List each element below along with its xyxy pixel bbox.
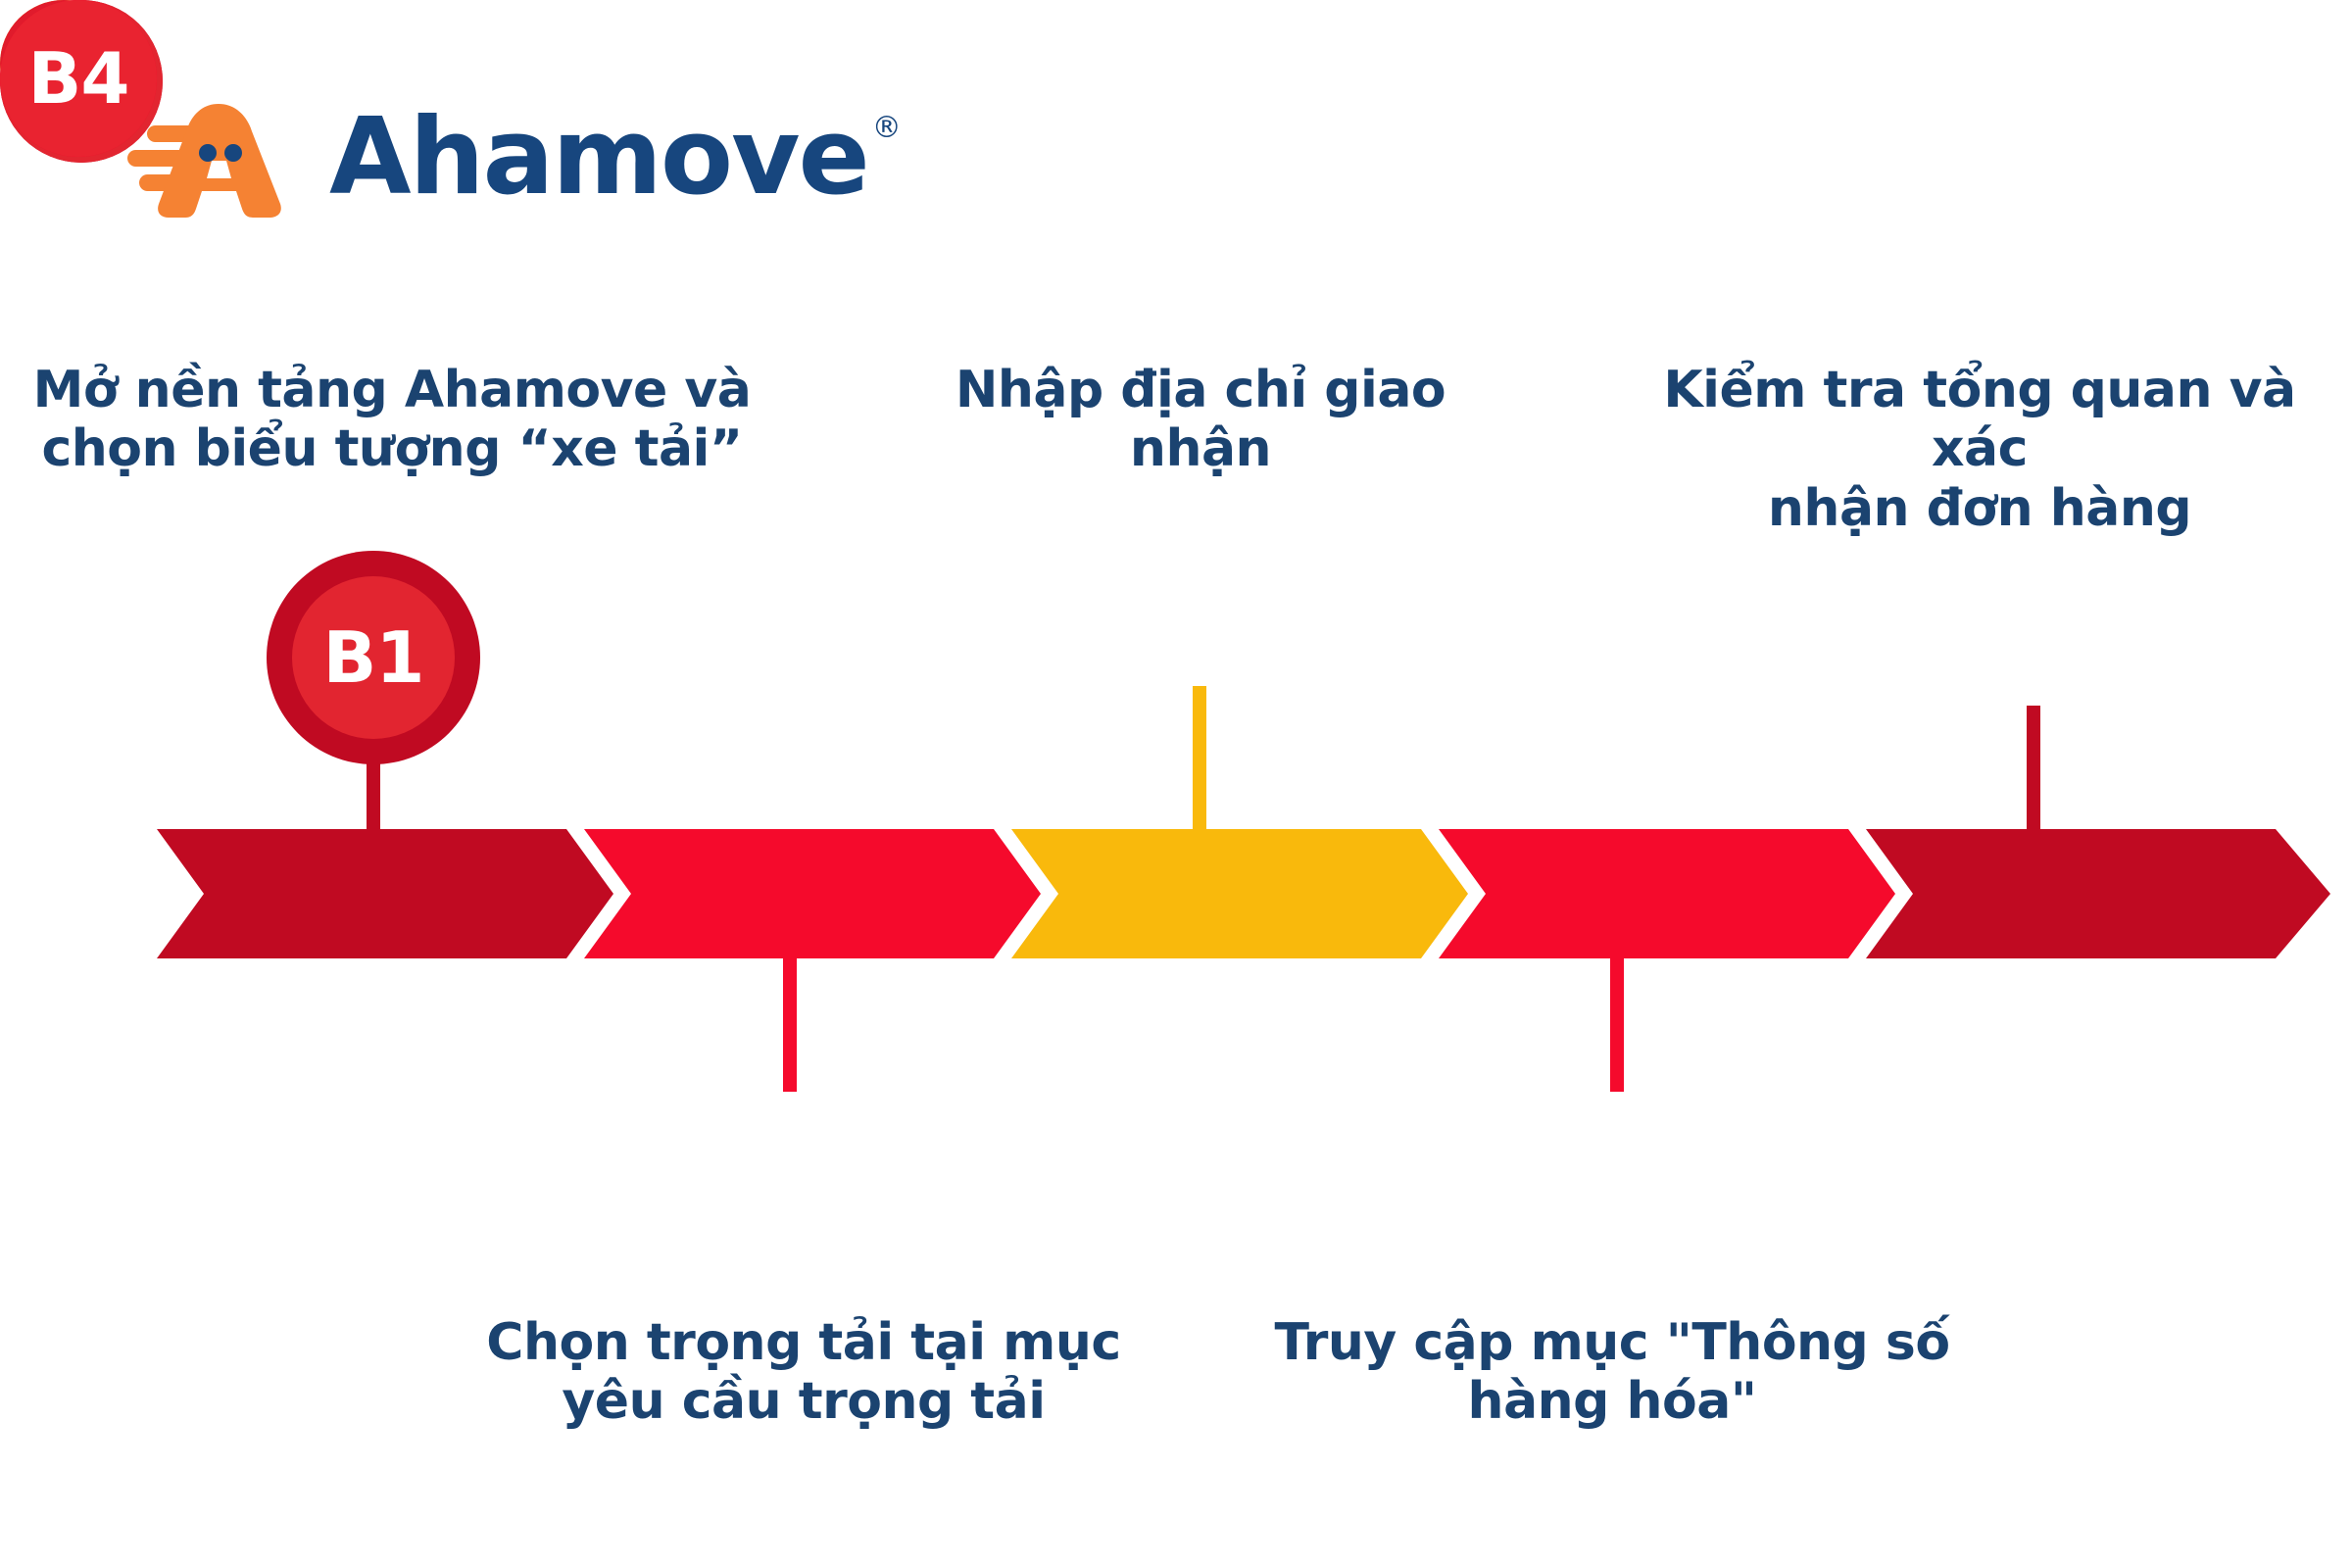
chevron-b5	[1866, 829, 2330, 958]
step-caption-b5: Kiểm tra tổng quan và xác nhận đơn hàng	[1656, 361, 2303, 538]
chevron-b1	[157, 829, 613, 958]
brand-name: Ahamove	[329, 105, 868, 211]
brand-logo: Ahamove ®	[125, 94, 902, 221]
chevron-b3	[1011, 829, 1468, 958]
step-marker-label-b4: B4	[28, 43, 129, 114]
step-marker-b1[interactable]: B1	[267, 551, 480, 764]
step-caption-b1: Mở nền tảng Ahamove và chọn biểu tượng “…	[29, 361, 755, 479]
infographic-canvas: Ahamove ® Mở nền tảng Ahamove và chọn bi…	[0, 0, 2352, 1568]
connector-stem-b2	[783, 955, 797, 1092]
step-marker-b4[interactable]: B4	[0, 0, 157, 157]
brand-wordmark: Ahamove ®	[329, 105, 902, 211]
step-caption-b2: Chọn trọng tải tại mục yêu cầu trọng tải	[465, 1313, 1142, 1432]
process-chevron-band	[0, 829, 2352, 958]
chevron-b4	[1439, 829, 1895, 958]
step-marker-label-b1: B1	[323, 622, 424, 693]
step-caption-b4: Truy cập mục "Thông số hàng hóa"	[1274, 1313, 1950, 1432]
chevron-b2	[584, 829, 1041, 958]
connector-stem-b4	[1610, 955, 1624, 1092]
connector-stem-b5	[2027, 706, 2040, 833]
step-caption-b3: Nhập địa chỉ giao nhận	[887, 361, 1514, 479]
registered-trademark-icon: ®	[872, 111, 902, 145]
connector-stem-b3	[1193, 686, 1206, 833]
